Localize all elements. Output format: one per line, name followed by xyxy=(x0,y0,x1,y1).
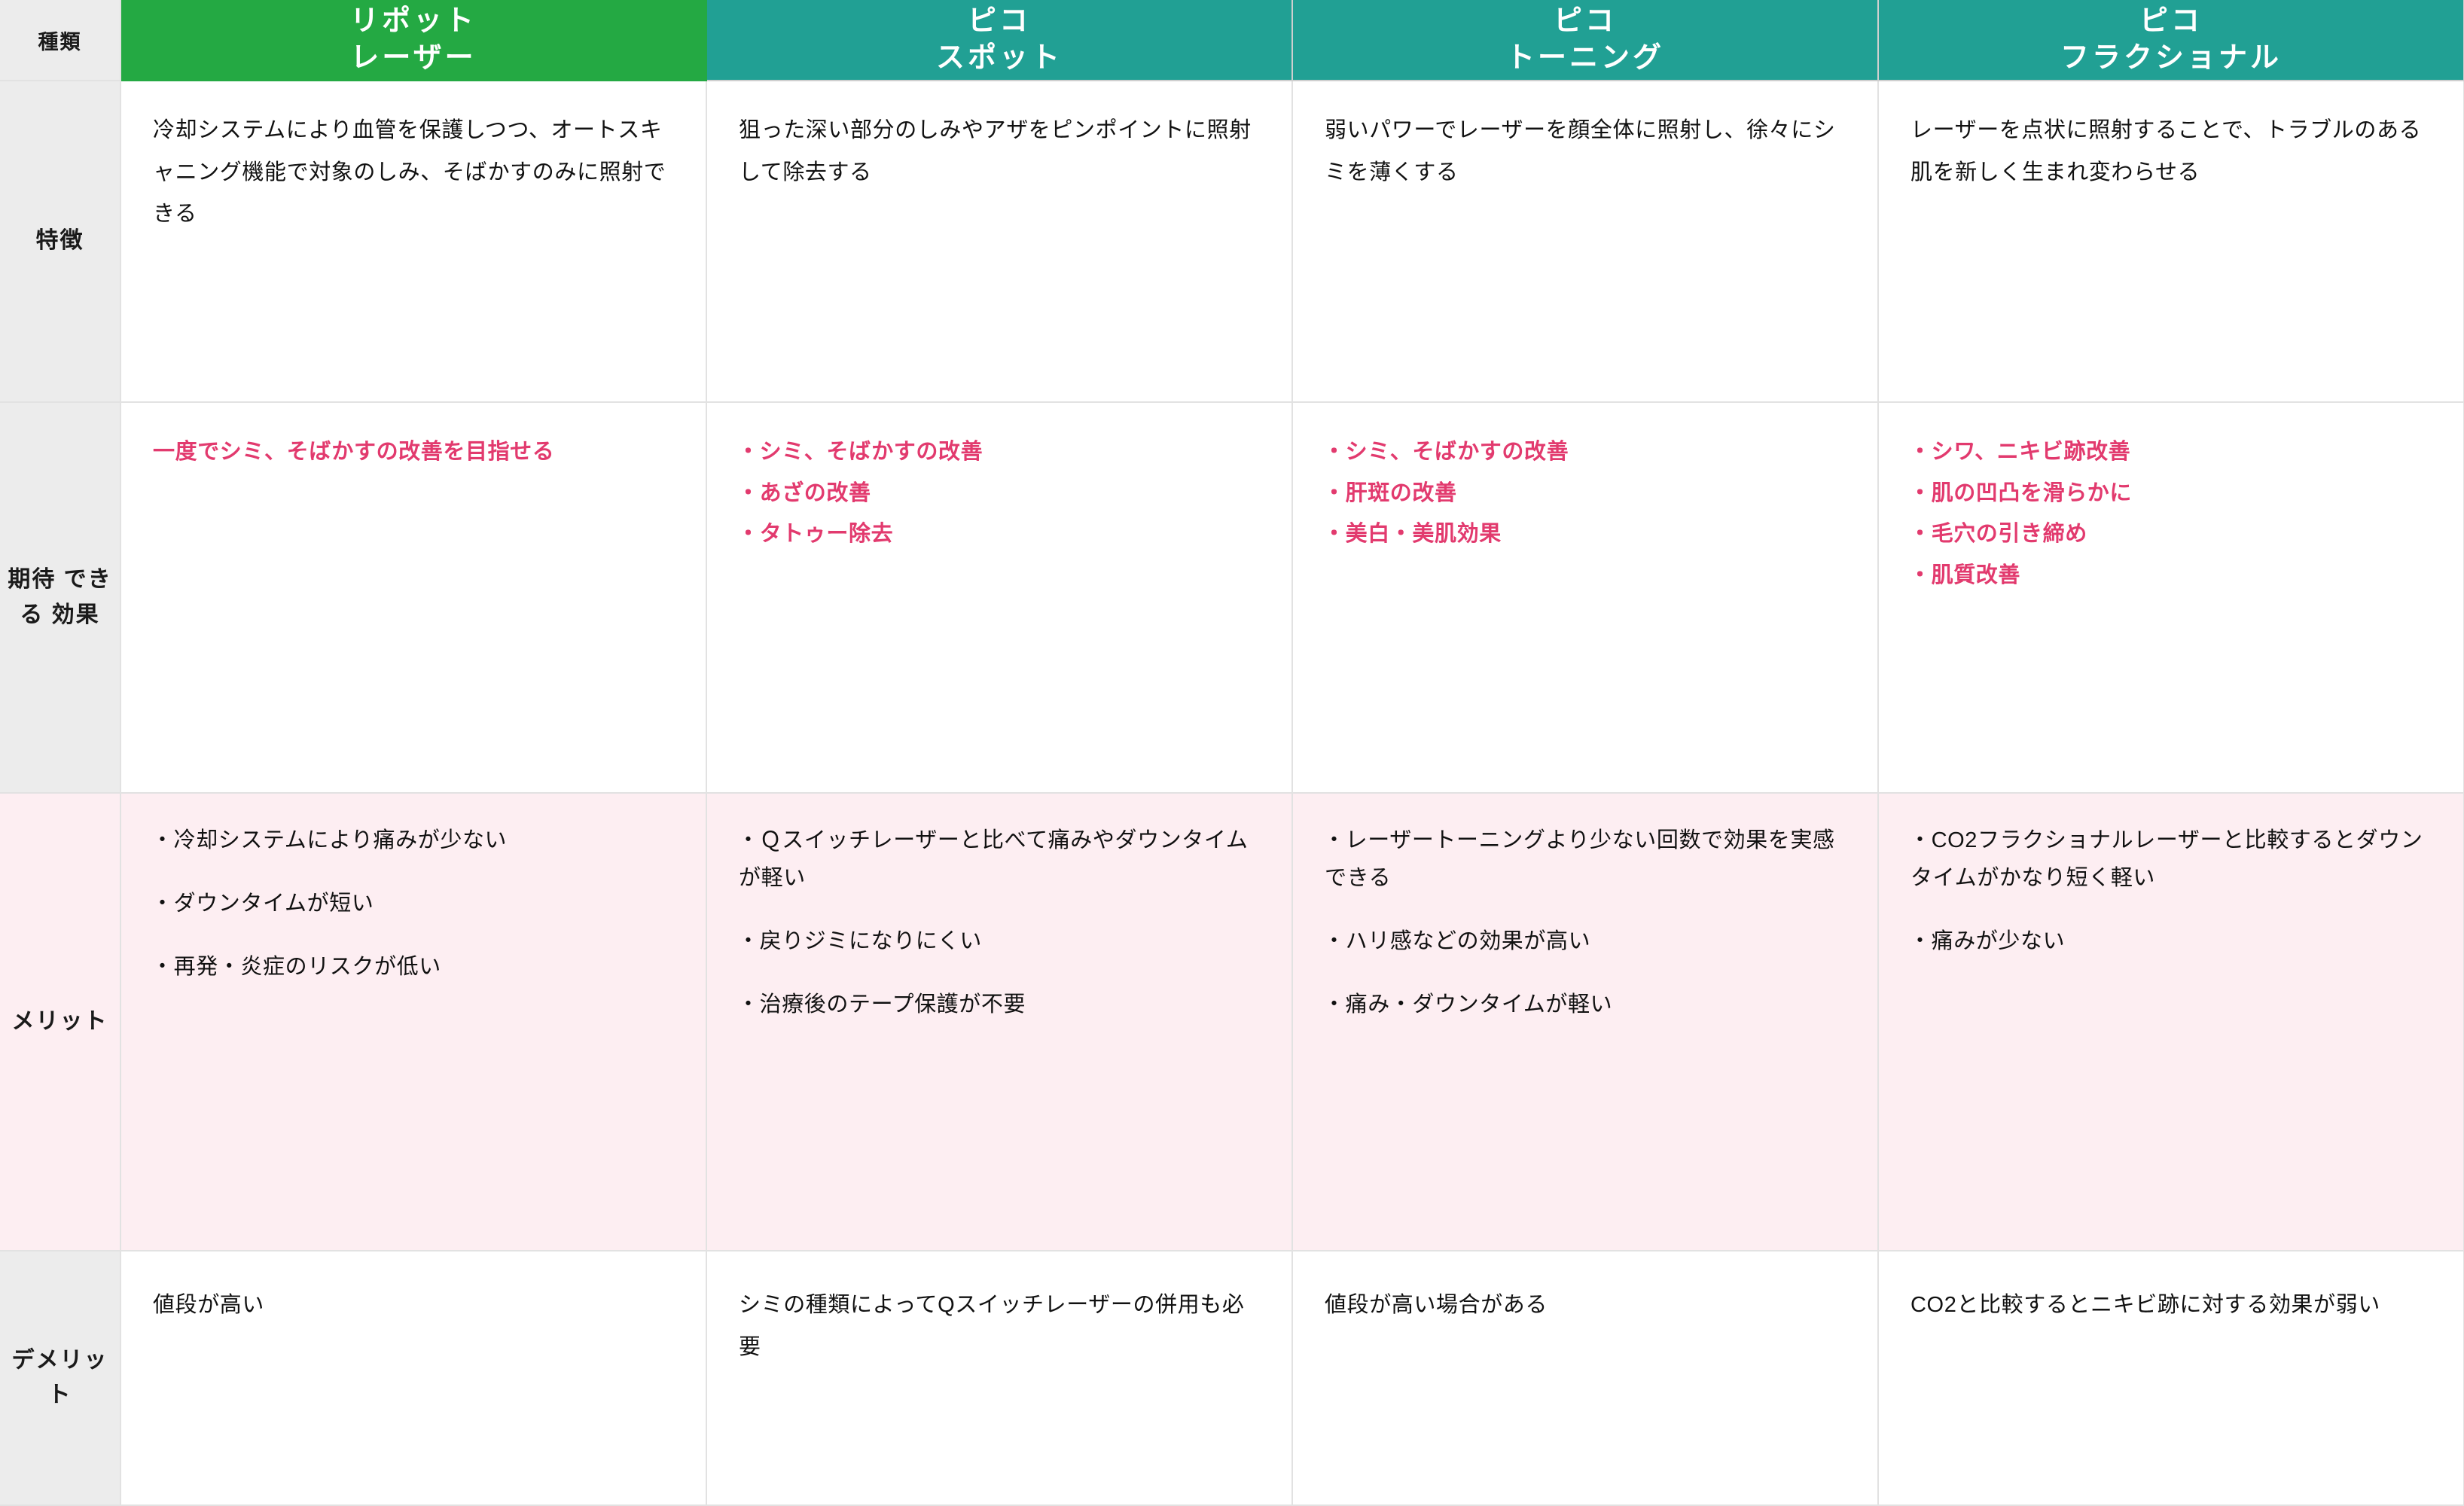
header-corner-label: 種類 xyxy=(0,0,120,81)
treatment-comparison-table: 種類 リポット レーザー ピコ スポット ピコ トーニング ピコ フラクショナル… xyxy=(0,0,2464,1506)
header-col0-line1: リポット xyxy=(121,3,706,40)
cell-features-pico-fractional: レーザーを点状に照射することで、トラブルのある肌を新しく生まれ変わらせる xyxy=(1878,81,2464,402)
cell-features-pico-spot: 狙った深い部分のしみやアザをピンポイントに照射して除去する xyxy=(706,81,1292,402)
table-row-merits: メリット 冷却システムにより痛みが少ない ダウンタイムが短い 再発・炎症のリスク… xyxy=(0,793,2464,1251)
header-column-pico-fractional: ピコ フラクショナル xyxy=(1878,0,2464,81)
table-row-features: 特徴 冷却システムにより血管を保護しつつ、オートスキャニング機能で対象のしみ、そ… xyxy=(0,81,2464,402)
effects-list-col2: シミ、そばかすの改善 肝斑の改善 美白・美肌効果 xyxy=(1325,431,1846,555)
list-item: 戻りジミになりにくい xyxy=(739,923,1260,961)
header-col2-line1: ピコ xyxy=(1293,3,1877,40)
cell-features-pico-toning: 弱いパワーでレーザーを顔全体に照射し、徐々にシミを薄くする xyxy=(1292,81,1878,402)
effects-list-col3: シワ、ニキビ跡改善 肌の凹凸を滑らかに 毛穴の引き締め 肌質改善 xyxy=(1911,431,2432,596)
features-text-col2: 弱いパワーでレーザーを顔全体に照射し、徐々にシミを薄くする xyxy=(1325,110,1846,194)
features-text-col3: レーザーを点状に照射することで、トラブルのある肌を新しく生まれ変わらせる xyxy=(1911,110,2432,194)
cell-merits-pico-spot: Ｑスイッチレーザーと比べて痛みやダウンタイムが軽い 戻りジミになりにくい 治療後… xyxy=(706,793,1292,1251)
header-col2-line2: トーニング xyxy=(1293,40,1877,77)
list-item: シワ、ニキビ跡改善 xyxy=(1911,431,2432,473)
list-item: 美白・美肌効果 xyxy=(1325,514,1846,555)
effects-list-col1: シミ、そばかすの改善 あざの改善 タトゥー除去 xyxy=(739,431,1260,555)
list-item: 肌の凹凸を滑らかに xyxy=(1911,473,2432,514)
merits-list-col1: Ｑスイッチレーザーと比べて痛みやダウンタイムが軽い 戻りジミになりにくい 治療後… xyxy=(739,822,1260,1024)
list-item: Ｑスイッチレーザーと比べて痛みやダウンタイムが軽い xyxy=(739,822,1260,898)
list-item: 肝斑の改善 xyxy=(1325,473,1846,514)
cell-demerits-pico-spot: シミの種類によってQスイッチレーザーの併用も必要 xyxy=(706,1251,1292,1505)
list-item: 冷却システムにより痛みが少ない xyxy=(153,822,674,860)
cell-demerits-pico-fractional: CO2と比較するとニキビ跡に対する効果が弱い xyxy=(1878,1251,2464,1505)
row-label-features: 特徴 xyxy=(0,81,120,402)
header-column-ripot-laser: リポット レーザー xyxy=(120,0,706,81)
merits-list-col2: レーザートーニングより少ない回数で効果を実感できる ハリ感などの効果が高い 痛み… xyxy=(1325,822,1846,1024)
header-col1-line2: スポット xyxy=(707,40,1291,77)
cell-merits-pico-fractional: CO2フラクショナルレーザーと比較するとダウンタイムがかなり短く軽い 痛みが少な… xyxy=(1878,793,2464,1251)
row-label-merits: メリット xyxy=(0,793,120,1251)
features-text-col0: 冷却システムにより血管を保護しつつ、オートスキャニング機能で対象のしみ、そばかす… xyxy=(153,110,674,236)
effects-text-col0: 一度でシミ、そばかすの改善を目指せる xyxy=(153,431,674,473)
list-item: 治療後のテープ保護が不要 xyxy=(739,986,1260,1024)
merits-list-col0: 冷却システムにより痛みが少ない ダウンタイムが短い 再発・炎症のリスクが低い xyxy=(153,822,674,986)
header-row: 種類 リポット レーザー ピコ スポット ピコ トーニング ピコ フラクショナル xyxy=(0,0,2464,81)
header-col0-line2: レーザー xyxy=(121,40,706,77)
list-item: 痛みが少ない xyxy=(1911,923,2432,961)
table-body: 特徴 冷却システムにより血管を保護しつつ、オートスキャニング機能で対象のしみ、そ… xyxy=(0,81,2464,1505)
row-label-effects-line3: 効果 xyxy=(52,602,100,627)
cell-effects-pico-toning: シミ、そばかすの改善 肝斑の改善 美白・美肌効果 xyxy=(1292,402,1878,793)
header-col1-line1: ピコ xyxy=(707,3,1291,40)
cell-effects-pico-fractional: シワ、ニキビ跡改善 肌の凹凸を滑らかに 毛穴の引き締め 肌質改善 xyxy=(1878,402,2464,793)
demerits-text-col3: CO2と比較するとニキビ跡に対する効果が弱い xyxy=(1911,1285,2432,1327)
demerits-text-col2: 値段が高い場合がある xyxy=(1325,1285,1846,1327)
header-column-pico-toning: ピコ トーニング xyxy=(1292,0,1878,81)
table-header: 種類 リポット レーザー ピコ スポット ピコ トーニング ピコ フラクショナル xyxy=(0,0,2464,81)
list-item: ダウンタイムが短い xyxy=(153,886,674,923)
demerits-text-col0: 値段が高い xyxy=(153,1285,674,1327)
header-column-pico-spot: ピコ スポット xyxy=(706,0,1292,81)
list-item: タトゥー除去 xyxy=(739,514,1260,555)
list-item: シミ、そばかすの改善 xyxy=(739,431,1260,473)
list-item: CO2フラクショナルレーザーと比較するとダウンタイムがかなり短く軽い xyxy=(1911,822,2432,898)
list-item: 毛穴の引き締め xyxy=(1911,514,2432,555)
demerits-text-col1: シミの種類によってQスイッチレーザーの併用も必要 xyxy=(739,1285,1260,1368)
header-col3-line2: フラクショナル xyxy=(1879,40,2463,77)
cell-merits-ripot-laser: 冷却システムにより痛みが少ない ダウンタイムが短い 再発・炎症のリスクが低い xyxy=(120,793,706,1251)
list-item: 再発・炎症のリスクが低い xyxy=(153,949,674,986)
list-item: 肌質改善 xyxy=(1911,555,2432,596)
merits-list-col3: CO2フラクショナルレーザーと比較するとダウンタイムがかなり短く軽い 痛みが少な… xyxy=(1911,822,2432,961)
list-item: 痛み・ダウンタイムが軽い xyxy=(1325,986,1846,1024)
cell-features-ripot-laser: 冷却システムにより血管を保護しつつ、オートスキャニング機能で対象のしみ、そばかす… xyxy=(120,81,706,402)
list-item: シミ、そばかすの改善 xyxy=(1325,431,1846,473)
list-item: ハリ感などの効果が高い xyxy=(1325,923,1846,961)
cell-merits-pico-toning: レーザートーニングより少ない回数で効果を実感できる ハリ感などの効果が高い 痛み… xyxy=(1292,793,1878,1251)
table-row-demerits: デメリット 値段が高い シミの種類によってQスイッチレーザーの併用も必要 値段が… xyxy=(0,1251,2464,1505)
list-item: あざの改善 xyxy=(739,473,1260,514)
cell-demerits-pico-toning: 値段が高い場合がある xyxy=(1292,1251,1878,1505)
list-item: レーザートーニングより少ない回数で効果を実感できる xyxy=(1325,822,1846,898)
cell-effects-ripot-laser: 一度でシミ、そばかすの改善を目指せる xyxy=(120,402,706,793)
cell-demerits-ripot-laser: 値段が高い xyxy=(120,1251,706,1505)
row-label-effects-line1: 期待 xyxy=(8,567,56,592)
row-label-demerits: デメリット xyxy=(0,1251,120,1505)
features-text-col1: 狙った深い部分のしみやアザをピンポイントに照射して除去する xyxy=(739,110,1260,194)
row-label-expected-effects: 期待 できる 効果 xyxy=(0,402,120,793)
cell-effects-pico-spot: シミ、そばかすの改善 あざの改善 タトゥー除去 xyxy=(706,402,1292,793)
table-row-expected-effects: 期待 できる 効果 一度でシミ、そばかすの改善を目指せる シミ、そばかすの改善 … xyxy=(0,402,2464,793)
header-col3-line1: ピコ xyxy=(1879,3,2463,40)
